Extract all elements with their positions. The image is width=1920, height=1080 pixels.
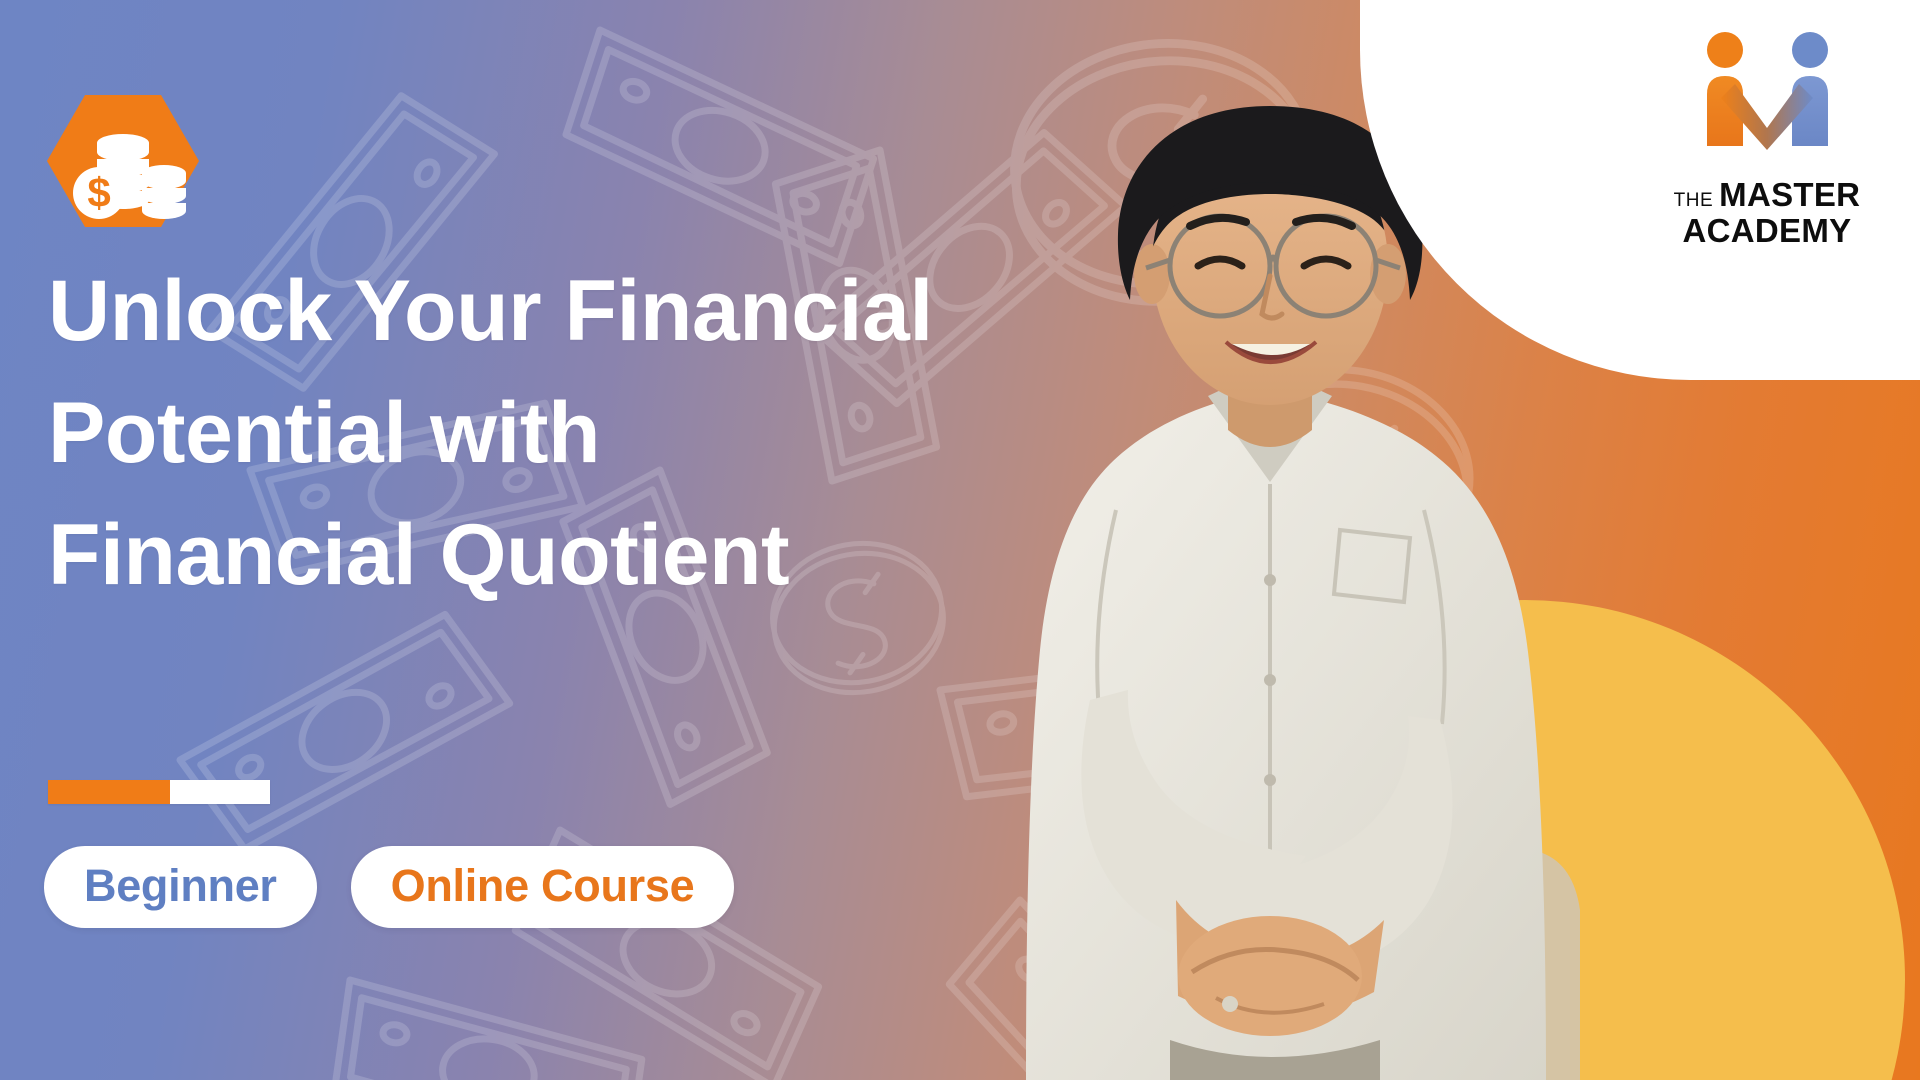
brand-logo[interactable]: THE MASTER ACADEMY	[1662, 24, 1872, 247]
course-banner: THE MASTER ACADEMY	[0, 0, 1920, 1080]
svg-text:$: $	[87, 169, 110, 216]
category-icon[interactable]: $	[47, 85, 199, 237]
badge-row: Beginner Online Course	[44, 846, 734, 928]
logo-academy: ACADEMY	[1674, 214, 1861, 247]
divider-segment-orange	[48, 780, 170, 804]
badge-format[interactable]: Online Course	[351, 846, 735, 928]
logo-master: MASTER	[1719, 178, 1860, 211]
headline-line-1: Unlock Your Financial	[48, 250, 1028, 372]
divider-segment-white	[170, 780, 270, 804]
page-title: Unlock Your Financial Potential with Fin…	[48, 250, 1028, 616]
badge-level[interactable]: Beginner	[44, 846, 317, 928]
headline-line-2: Potential with	[48, 372, 1028, 494]
logo-the: THE	[1674, 191, 1714, 210]
handshake-m-icon	[1679, 24, 1855, 174]
logo-wordmark: THE MASTER ACADEMY	[1674, 178, 1861, 247]
headline-line-3: Financial Quotient	[48, 494, 1028, 616]
coins-stack-icon: $	[47, 85, 199, 237]
progress-divider	[48, 780, 270, 804]
